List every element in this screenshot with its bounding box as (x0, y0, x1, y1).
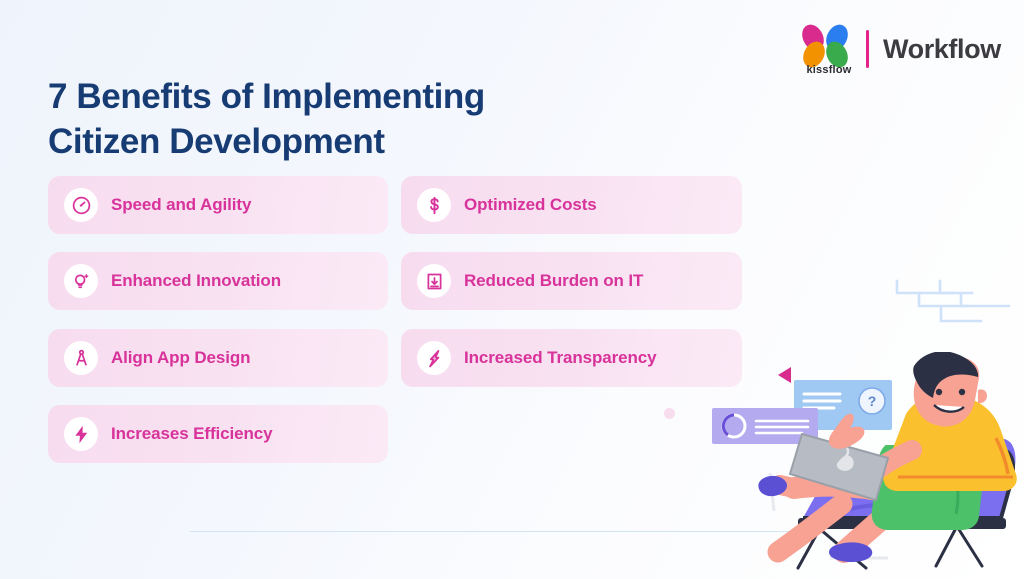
infographic-canvas: kissflow Workflow 7 Benefits of Implemen… (0, 0, 1024, 579)
benefit-label: Increased Transparency (464, 348, 656, 368)
kissflow-butterfly-logo: kissflow (800, 24, 856, 74)
logo-wordmark: kissflow (802, 64, 856, 76)
lightning-bolt-icon (64, 417, 98, 451)
benefit-label: Align App Design (111, 348, 250, 368)
benefit-card-enhanced-innovation[interactable]: Enhanced Innovation (48, 252, 388, 310)
benefit-card-speed-and-agility[interactable]: Speed and Agility (48, 176, 388, 234)
benefit-card-reduced-burden-on-it[interactable]: Reduced Burden on IT (401, 252, 742, 310)
benefit-card-align-app-design[interactable]: Align App Design (48, 329, 388, 387)
product-name: Workflow (883, 34, 1001, 65)
benefit-card-optimized-costs[interactable]: Optimized Costs (401, 176, 742, 234)
benefit-label: Enhanced Innovation (111, 271, 281, 291)
benefit-card-increases-efficiency[interactable]: Increases Efficiency (48, 405, 388, 463)
title-line-1: 7 Benefits of Implementing (48, 77, 485, 116)
benefit-label: Increases Efficiency (111, 424, 272, 444)
brand-logo: kissflow Workflow (800, 24, 1001, 74)
chair-legs (798, 528, 982, 568)
blue-stair-lines-decoration (895, 278, 1011, 336)
compass-divider-icon (64, 341, 98, 375)
speedometer-icon (64, 188, 98, 222)
benefit-label: Reduced Burden on IT (464, 271, 643, 291)
benefit-label: Speed and Agility (111, 195, 251, 215)
download-box-icon (417, 264, 451, 298)
pink-dot-decoration (664, 408, 675, 419)
brand-separator (866, 30, 869, 68)
benefit-label: Optimized Costs (464, 195, 597, 215)
trending-arrow-icon (417, 341, 451, 375)
dollar-sign-icon (417, 188, 451, 222)
man-reclining-with-laptop-illustration (690, 352, 1024, 579)
title-line-2: Citizen Development (48, 120, 668, 164)
hand-pointing (829, 414, 865, 449)
page-title: 7 Benefits of Implementing Citizen Devel… (48, 75, 668, 164)
lightbulb-sparkle-icon (64, 264, 98, 298)
